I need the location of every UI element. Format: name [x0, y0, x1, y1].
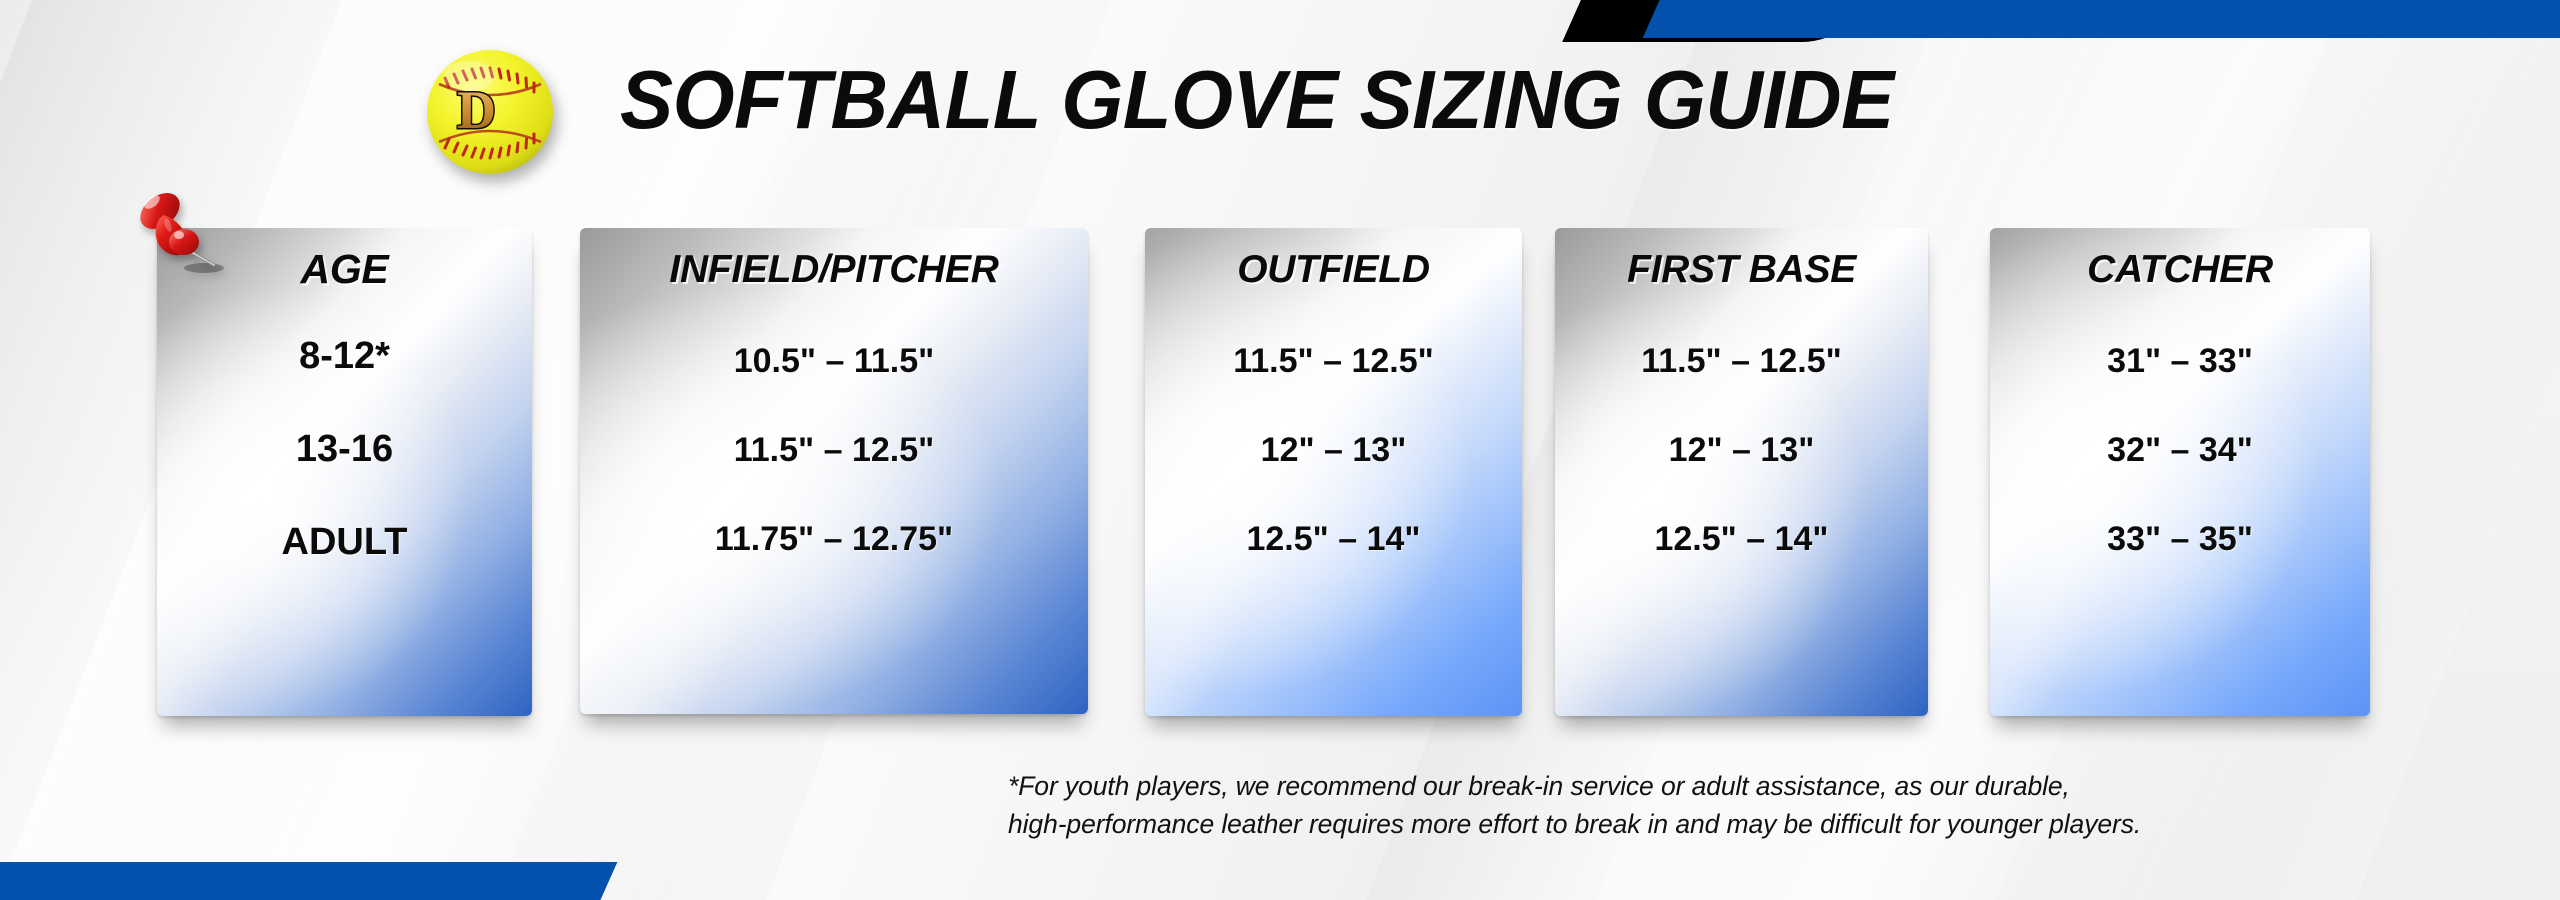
pushpin-icon [134, 185, 246, 289]
card-title: FIRST BASE [1627, 248, 1856, 292]
header: D SOFTBALL GLOVE SIZING GUIDE [0, 0, 2560, 200]
card-value: 13-16 [157, 428, 532, 471]
card-outfield: OUTFIELD 11.5" – 12.5" 12" – 13" 12.5" –… [1145, 228, 1522, 716]
accent-black-bottom-left [583, 860, 898, 900]
accent-blue-bottom-left [0, 862, 617, 900]
card-value: 11.5" – 12.5" [1555, 342, 1928, 381]
card-age: AGE 8-12* 13-16 ADULT [157, 228, 532, 716]
card-title: AGE [301, 246, 389, 293]
card-value: 32" – 34" [1990, 431, 2370, 470]
card-title: INFIELD/PITCHER [669, 248, 998, 292]
card-value: 11.5" – 12.5" [1145, 342, 1522, 381]
card-first-base: FIRST BASE 11.5" – 12.5" 12" – 13" 12.5"… [1555, 228, 1928, 716]
card-value: 12" – 13" [1555, 431, 1928, 470]
card-value: 11.5" – 12.5" [580, 431, 1088, 470]
card-value: 11.75" – 12.75" [580, 520, 1088, 559]
card-infield-pitcher: INFIELD/PITCHER 10.5" – 11.5" 11.5" – 12… [580, 228, 1088, 714]
card-title: OUTFIELD [1237, 248, 1430, 292]
page-title: SOFTBALL GLOVE SIZING GUIDE [620, 52, 1894, 148]
card-value: 31" – 33" [1990, 342, 2370, 381]
footnote-line-2: high-performance leather requires more e… [1008, 806, 2468, 844]
footnote-line-1: *For youth players, we recommend our bre… [1008, 768, 2468, 806]
sizing-guide-graphic: D SOFTBALL GLOVE SIZING GUIDE [0, 0, 2560, 900]
card-value: 33" – 35" [1990, 520, 2370, 559]
card-value: 12.5" – 14" [1145, 520, 1522, 559]
card-value: 10.5" – 11.5" [580, 342, 1088, 381]
card-catcher: CATCHER 31" – 33" 32" – 34" 33" – 35" [1990, 228, 2370, 716]
card-value: 12.5" – 14" [1555, 520, 1928, 559]
card-value: ADULT [157, 521, 532, 564]
footnote: *For youth players, we recommend our bre… [1008, 768, 2468, 843]
card-value: 12" – 13" [1145, 431, 1522, 470]
softball-icon: D [425, 48, 555, 176]
card-value: 8-12* [157, 335, 532, 378]
card-title: CATCHER [2087, 248, 2273, 292]
size-cards: AGE 8-12* 13-16 ADULT INFIELD/PITCHER 10… [0, 228, 2560, 728]
